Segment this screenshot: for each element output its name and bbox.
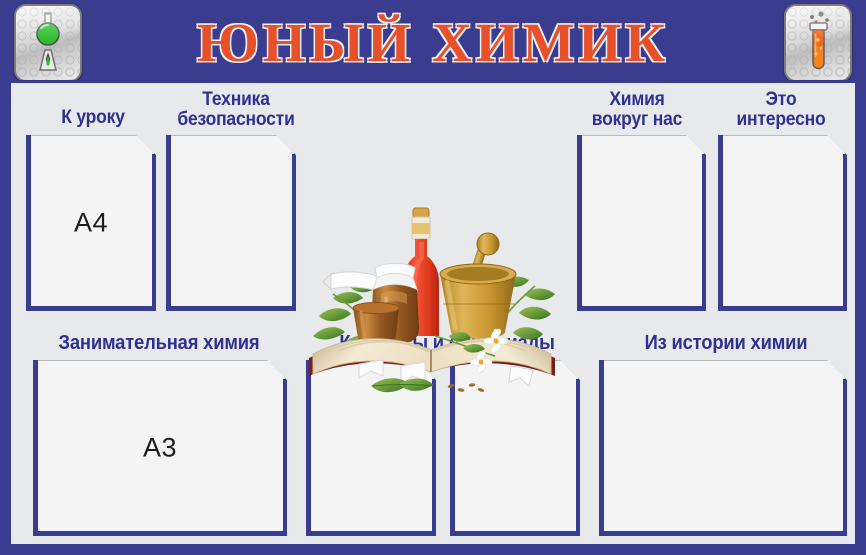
pocket-tehnika-bezopasnosti[interactable] bbox=[166, 135, 296, 311]
pocket-rail-right bbox=[292, 154, 296, 311]
pocket-rail-bottom bbox=[577, 306, 706, 311]
page-title: ЮНЫЙ ХИМИК bbox=[197, 15, 669, 70]
title-block: ЮНЫЙ ХИМИК bbox=[95, 0, 771, 82]
section-title-k-uroku: К уроку bbox=[29, 108, 158, 128]
pocket-rail-right bbox=[576, 379, 580, 536]
pocket-rail-bottom bbox=[33, 531, 287, 536]
pocket-rail-right bbox=[843, 154, 847, 311]
mortar-and-pestle bbox=[440, 233, 516, 339]
stand-header: ЮНЫЙ ХИМИК bbox=[0, 0, 866, 82]
pocket-rail-left bbox=[599, 360, 604, 536]
section-title-iz-istorii-himii: Из истории химии bbox=[611, 333, 841, 354]
section-title-zanimatelnaya-himiya: Занимательная химия bbox=[30, 333, 288, 354]
flask-burner-icon bbox=[14, 4, 82, 82]
pocket-face bbox=[577, 135, 706, 311]
fallen-leaves bbox=[371, 378, 433, 392]
pocket-rail-bottom bbox=[26, 306, 156, 311]
pocket-k-uroku[interactable]: A4 bbox=[26, 135, 156, 311]
information-stand: ЮНЫЙ ХИМИК bbox=[0, 0, 866, 555]
pocket-rail-bottom bbox=[166, 306, 296, 311]
section-title-eto-interesno: Это интересно bbox=[717, 90, 846, 130]
section-title-tehnika-bezopasnosti: Техника безопасности bbox=[162, 90, 309, 130]
section-title-himiya-vokrug-nas: Химия вокруг нас bbox=[573, 90, 702, 130]
pocket-rail-right bbox=[432, 379, 436, 536]
pocket-eto-interesno[interactable] bbox=[718, 135, 847, 311]
pocket-rail-bottom bbox=[450, 531, 580, 536]
icon-glass-sheen bbox=[16, 6, 80, 39]
pocket-rail-bottom bbox=[599, 531, 847, 536]
pocket-rail-bottom bbox=[306, 531, 436, 536]
pocket-rail-bottom bbox=[718, 306, 847, 311]
pocket-rail-right bbox=[843, 379, 847, 536]
pocket-rail-left bbox=[718, 135, 723, 311]
seeds bbox=[447, 383, 484, 393]
pocket-iz-istorii-himii[interactable] bbox=[599, 360, 847, 536]
test-tube-icon bbox=[784, 4, 852, 82]
pocket-rail-left bbox=[577, 135, 582, 311]
pocket-face bbox=[166, 135, 296, 311]
icon-glass-sheen bbox=[786, 6, 850, 39]
pocket-himiya-vokrug-nas[interactable] bbox=[577, 135, 706, 311]
content-panel: К уроку Техника безопасности Химия вокру… bbox=[8, 80, 858, 547]
pocket-rail-left bbox=[166, 135, 171, 311]
chemistry-book-illustration bbox=[303, 186, 565, 398]
pocket-zanimatelnaya-himiya[interactable]: A3 bbox=[33, 360, 287, 536]
pocket-face bbox=[718, 135, 847, 311]
pocket-face bbox=[599, 360, 847, 536]
pocket-size-label: A3 bbox=[33, 433, 287, 464]
pocket-rail-right bbox=[702, 154, 706, 311]
pocket-size-label: A4 bbox=[26, 208, 156, 239]
